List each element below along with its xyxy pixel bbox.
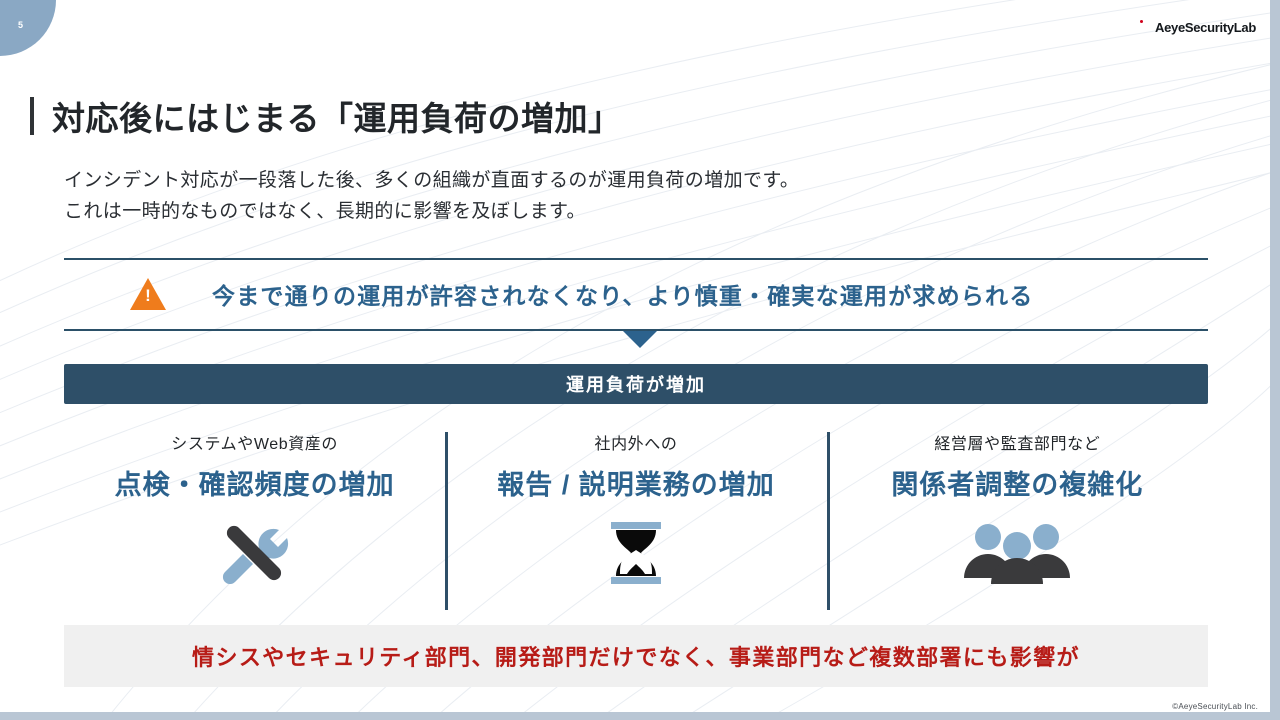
page-title: 対応後にはじまる「運用負荷の増加」 xyxy=(30,92,622,140)
column-1-title: 点検・確認頻度の増加 xyxy=(115,463,395,502)
hourglass-icon xyxy=(607,520,665,586)
slide-edge-bottom xyxy=(0,712,1280,720)
impact-column-2: 社内外への 報告 / 説明業務の増加 xyxy=(445,428,826,613)
warning-callout-text: 今まで通りの運用が許容されなくなり、より慎重・確実な運用が求められる xyxy=(212,277,1033,311)
lead-paragraph: インシデント対応が一段落した後、多くの組織が直面するのが運用負荷の増加です。 こ… xyxy=(64,165,799,228)
impact-summary-text: 情シスやセキュリティ部門、開発部門だけでなく、事業部門など複数部署にも影響が xyxy=(192,640,1080,672)
column-2-subtitle: 社内外への xyxy=(594,430,677,454)
title-text: 対応後にはじまる「運用負荷の増加」 xyxy=(52,92,622,140)
impact-band-label: 運用負荷が増加 xyxy=(566,371,706,397)
down-arrow-icon xyxy=(623,331,657,348)
logo-accent-dot xyxy=(1140,20,1143,23)
warning-callout: ! 今まで通りの運用が許容されなくなり、より慎重・確実な運用が求められる xyxy=(64,268,1208,320)
column-1-subtitle: システムやWeb資産の xyxy=(171,430,338,454)
impact-column-1: システムやWeb資産の 点検・確認頻度の増加 xyxy=(64,428,445,613)
column-3-subtitle: 経営層や監査部門など xyxy=(934,430,1100,454)
tools-icon xyxy=(217,520,293,586)
callout-rule-top xyxy=(64,258,1208,260)
lead-line-2: これは一時的なものではなく、長期的に影響を及ぼします。 xyxy=(64,196,799,227)
column-3-title: 関係者調整の複雑化 xyxy=(891,463,1143,502)
impact-columns: システムやWeb資産の 点検・確認頻度の増加 社内外への 報告 / 説明業務の増… xyxy=(64,428,1208,613)
page-number-badge: 5 xyxy=(0,0,56,56)
title-accent-bar xyxy=(30,97,34,135)
brand-logo-label: AeyeSecurityLab xyxy=(1155,20,1256,35)
impact-summary-banner: 情シスやセキュリティ部門、開発部門だけでなく、事業部門など複数部署にも影響が xyxy=(64,625,1208,687)
column-2-title: 報告 / 説明業務の増加 xyxy=(497,463,775,502)
warning-triangle-icon: ! xyxy=(130,278,166,310)
slide: 5 AeyeSecurityLab 対応後にはじまる「運用負荷の増加」 インシデ… xyxy=(0,0,1280,720)
impact-band: 運用負荷が増加 xyxy=(64,364,1208,404)
brand-logo: AeyeSecurityLab xyxy=(1155,20,1256,35)
warning-exclamation-glyph: ! xyxy=(130,287,166,304)
impact-column-3: 経営層や監査部門など 関係者調整の複雑化 xyxy=(827,428,1208,613)
slide-edge-right xyxy=(1270,0,1280,720)
lead-line-1: インシデント対応が一段落した後、多くの組織が直面するのが運用負荷の増加です。 xyxy=(64,165,799,196)
people-group-icon xyxy=(961,520,1073,586)
copyright-notice: ©AeyeSecurityLab Inc. xyxy=(1172,702,1258,711)
page-number-label: 5 xyxy=(18,20,24,30)
